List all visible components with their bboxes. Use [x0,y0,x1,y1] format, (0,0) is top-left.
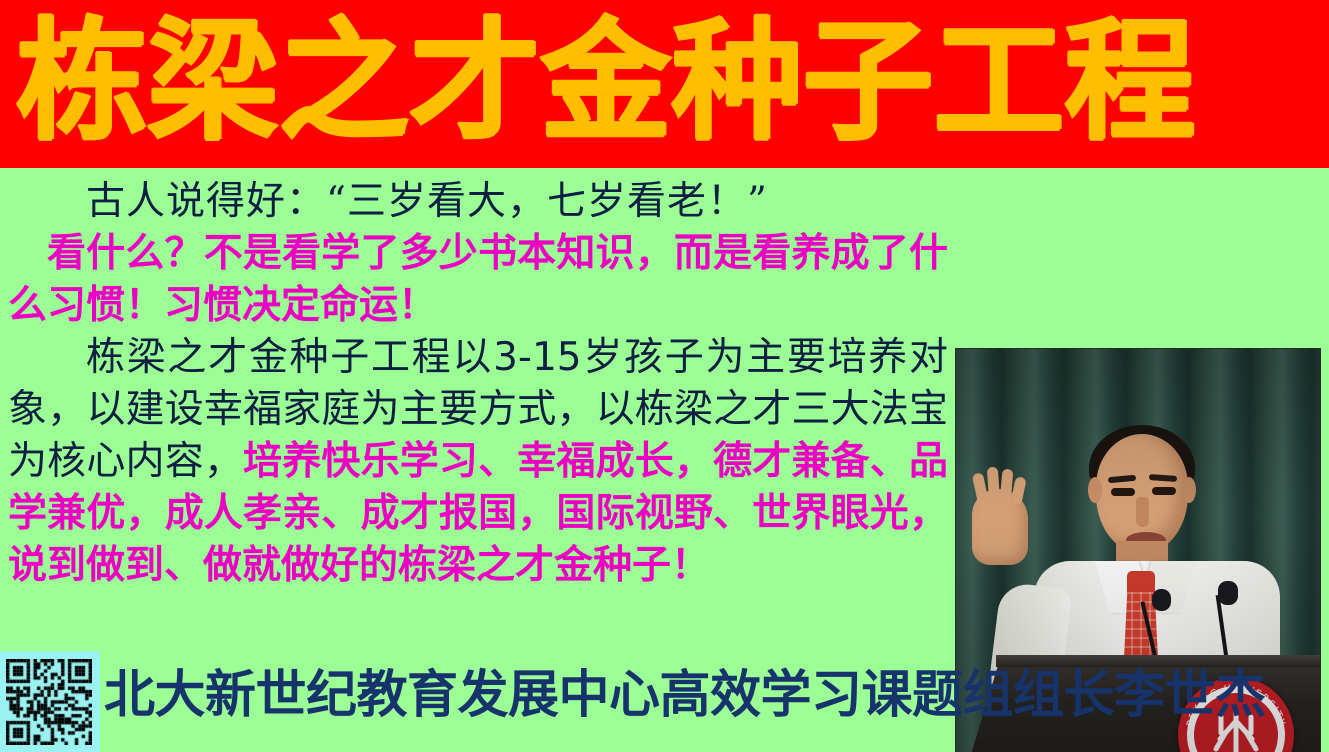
quote-line: 古人说得好：“三岁看大，七岁看老！” [8,176,948,228]
poster-root: 栋梁之才金种子工程 古人说得好：“三岁看大，七岁看老！” 看什么？不是看学了多少… [0,0,1329,752]
page-title: 栋梁之才金种子工程 [16,15,1316,149]
text-column: 古人说得好：“三岁看大，七岁看老！” 看什么？不是看学了多少书本知识，而是看养成… [8,176,948,592]
footer-row: 北大新世纪教育发展中心高效学习课题组组长李世杰 [0,648,1329,752]
main-paragraph: 栋梁之才金种子工程以3-15岁孩子为主要培养对象，以建设幸福家庭为主要方式，以栋… [8,332,948,592]
title-banner: 栋梁之才金种子工程 [0,0,1329,168]
footer-credit: 北大新世纪教育发展中心高效学习课题组组长李世杰 [104,659,1329,733]
qr-code-panel[interactable] [0,651,100,752]
qr-code-image[interactable] [6,659,92,745]
body-area: 古人说得好：“三岁看大，七岁看老！” 看什么？不是看学了多少书本知识，而是看养成… [0,168,1329,752]
highlight-block: 看什么？不是看学了多少书本知识，而是看养成了什么习惯！习惯决定命运！ [8,228,948,332]
